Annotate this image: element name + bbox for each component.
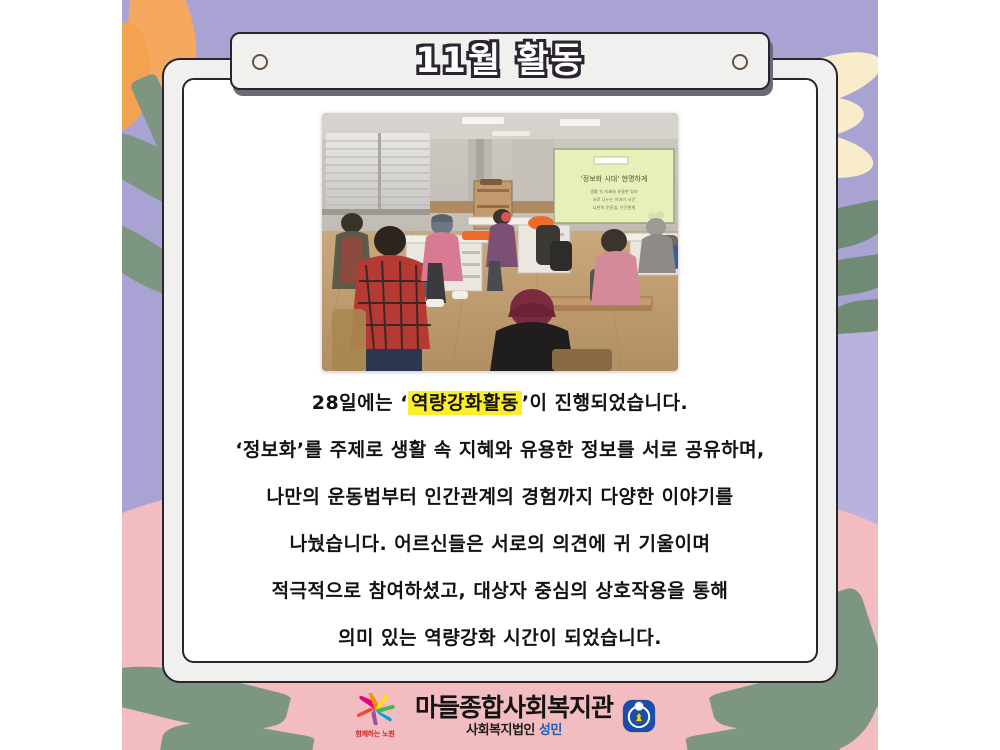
seongmin-logo-icon <box>622 699 656 733</box>
svg-text:생활 속 지혜와 유용한 정보: 생활 속 지혜와 유용한 정보 <box>590 188 638 195</box>
footer: 함께하는 노원 마들종합사회복지관 사회복지법인 성민 <box>122 688 878 744</box>
corporation-line: 사회복지법인 성민 <box>466 724 562 738</box>
corporation-prefix: 사회복지법인 <box>466 723 539 738</box>
activity-photo: ‘정보화 시대’ 현명하게 생활 속 지혜와 유용한 정보 서로 나누는 이야기… <box>322 113 678 371</box>
body-line-1-pre: 28일에는 ‘ <box>312 392 408 414</box>
corporation-name: 성민 <box>539 723 562 738</box>
title-banner: 11월 활동 <box>230 32 770 90</box>
svg-text:‘정보화 시대’ 현명하게: ‘정보화 시대’ 현명하게 <box>581 174 648 183</box>
body-line-1-post: ’이 진행되었습니다. <box>522 392 688 414</box>
body-line-6: 의미 있는 역량강화 시간이 되었습니다. <box>180 615 820 662</box>
body-line-5: 적극적으로 참여하셨고, 대상자 중심의 상호작용을 통해 <box>180 568 820 615</box>
activity-photo-illustration: ‘정보화 시대’ 현명하게 생활 속 지혜와 유용한 정보 서로 나누는 이야기… <box>322 113 678 371</box>
page-title: 11월 활동 <box>415 44 585 79</box>
right-margin <box>878 0 1000 750</box>
organization-name: 마들종합사회복지관 <box>415 695 613 721</box>
body-line-1: 28일에는 ‘역량강화활동’이 진행되었습니다. <box>180 380 820 427</box>
nowon-pinwheel-icon <box>352 693 398 725</box>
svg-text:나만의 운동법, 인간관계: 나만의 운동법, 인간관계 <box>593 204 636 211</box>
body-line-2: ‘정보화’를 주제로 생활 속 지혜와 유용한 정보를 서로 공유하며, <box>180 427 820 474</box>
highlighted-keyword: 역량강화활동 <box>408 391 522 415</box>
punch-hole-left-icon <box>252 54 268 70</box>
body-text: 28일에는 ‘역량강화활동’이 진행되었습니다. ‘정보화’를 주제로 생활 속… <box>180 380 820 662</box>
nowon-logo-caption: 함께하는 노원 <box>344 729 406 739</box>
punch-hole-right-icon <box>732 54 748 70</box>
body-line-3: 나만의 운동법부터 인간관계의 경험까지 다양한 이야기를 <box>180 474 820 521</box>
nowon-logo: 함께하는 노원 <box>344 693 406 739</box>
svg-text:서로 나누는 이야기 시간: 서로 나누는 이야기 시간 <box>593 196 636 203</box>
body-line-4: 나눴습니다. 어르신들은 서로의 의견에 귀 기울이며 <box>180 521 820 568</box>
footer-text-block: 마들종합사회복지관 사회복지법인 성민 <box>415 695 613 738</box>
left-margin <box>0 0 122 750</box>
poster-canvas: 함께하는 노원 마들종합사회복지관 사회복지법인 성민 11월 활동 <box>0 0 1000 750</box>
